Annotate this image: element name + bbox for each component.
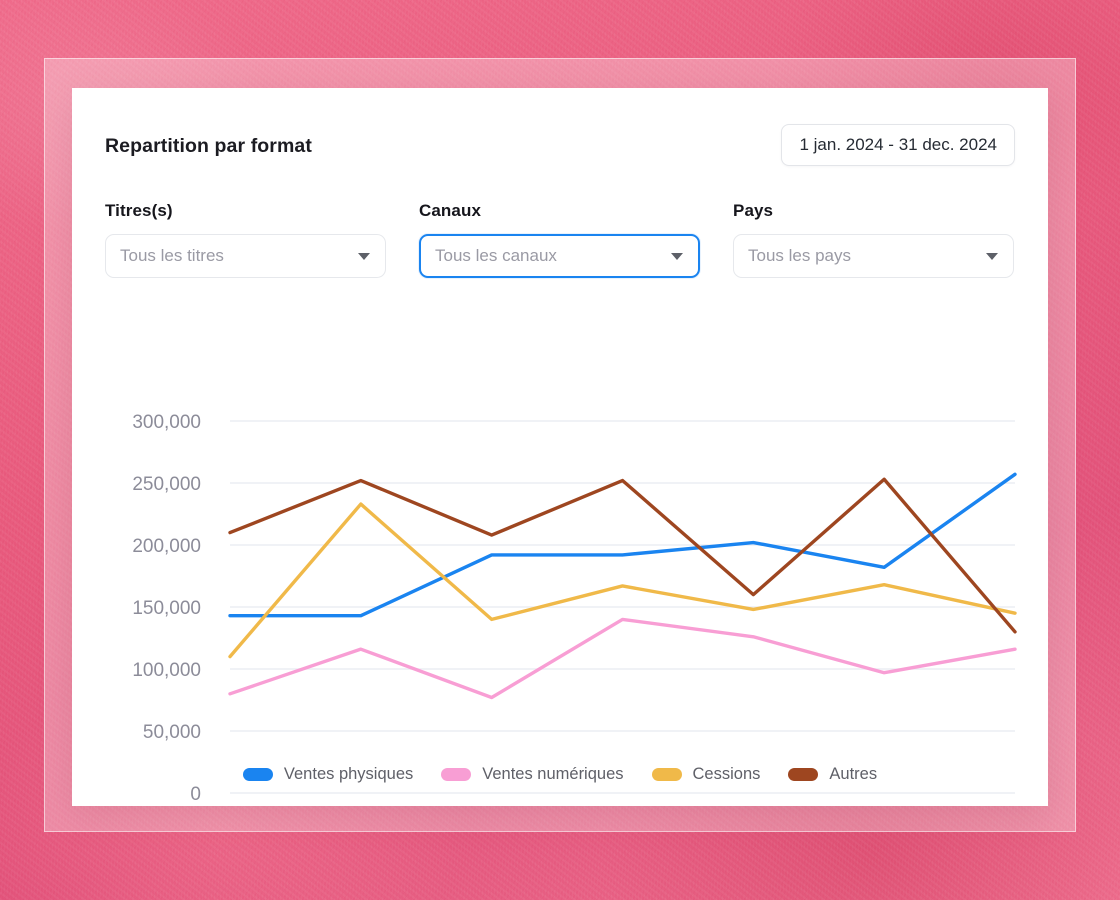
legend-swatch-icon: [441, 768, 471, 781]
filter-group-countries: PaysTous les pays: [733, 201, 1014, 278]
line-chart: 300,000250,000200,000150,000100,00050,00…: [72, 303, 1048, 806]
series-line-ventes-numériques: [230, 619, 1015, 697]
filter-label-titles: Titres(s): [105, 201, 386, 221]
filter-label-channels: Canaux: [419, 201, 700, 221]
filter-group-titles: Titres(s)Tous les titres: [105, 201, 386, 278]
legend-label: Ventes physiques: [284, 765, 413, 784]
page-title: Repartition par format: [105, 135, 312, 158]
legend-item[interactable]: Ventes numériques: [441, 765, 623, 784]
date-range-button[interactable]: 1 jan. 2024 - 31 dec. 2024: [781, 124, 1015, 166]
chevron-down-icon[interactable]: [671, 253, 683, 260]
select-value-titles: Tous les titres: [120, 246, 224, 266]
filter-group-channels: CanauxTous les canaux: [419, 201, 700, 278]
legend-item[interactable]: Autres: [788, 765, 877, 784]
card-header: Repartition par format 1 jan. 2024 - 31 …: [72, 88, 1048, 178]
select-channels[interactable]: Tous les canaux: [419, 234, 700, 278]
legend-swatch-icon: [652, 768, 682, 781]
chevron-down-icon[interactable]: [358, 253, 370, 260]
chart-gridlines: [230, 421, 1015, 793]
y-axis-tick-label: 100,000: [132, 660, 201, 681]
chevron-down-icon[interactable]: [986, 253, 998, 260]
y-axis-tick-label: 250,000: [132, 474, 201, 495]
series-line-cessions: [230, 504, 1015, 657]
select-value-channels: Tous les canaux: [435, 246, 557, 266]
chart-y-axis-labels: 300,000250,000200,000150,000100,00050,00…: [132, 412, 201, 805]
report-card: Repartition par format 1 jan. 2024 - 31 …: [72, 88, 1048, 806]
legend-swatch-icon: [788, 768, 818, 781]
filter-label-countries: Pays: [733, 201, 1014, 221]
legend-label: Autres: [829, 765, 877, 784]
legend-item[interactable]: Cessions: [652, 765, 761, 784]
y-axis-tick-label: 300,000: [132, 412, 201, 433]
legend-label: Cessions: [693, 765, 761, 784]
legend-swatch-icon: [243, 768, 273, 781]
chart-series-group: [230, 474, 1015, 697]
chart-legend: Ventes physiquesVentes numériquesCession…: [72, 765, 1048, 784]
legend-item[interactable]: Ventes physiques: [243, 765, 413, 784]
y-axis-tick-label: 0: [190, 784, 201, 805]
select-value-countries: Tous les pays: [748, 246, 851, 266]
legend-label: Ventes numériques: [482, 765, 623, 784]
filter-bar: Titres(s)Tous les titresCanauxTous les c…: [105, 201, 1015, 278]
select-titles[interactable]: Tous les titres: [105, 234, 386, 278]
select-countries[interactable]: Tous les pays: [733, 234, 1014, 278]
y-axis-tick-label: 50,000: [143, 722, 201, 743]
chart-area: 300,000250,000200,000150,000100,00050,00…: [72, 303, 1048, 806]
y-axis-tick-label: 150,000: [132, 598, 201, 619]
y-axis-tick-label: 200,000: [132, 536, 201, 557]
